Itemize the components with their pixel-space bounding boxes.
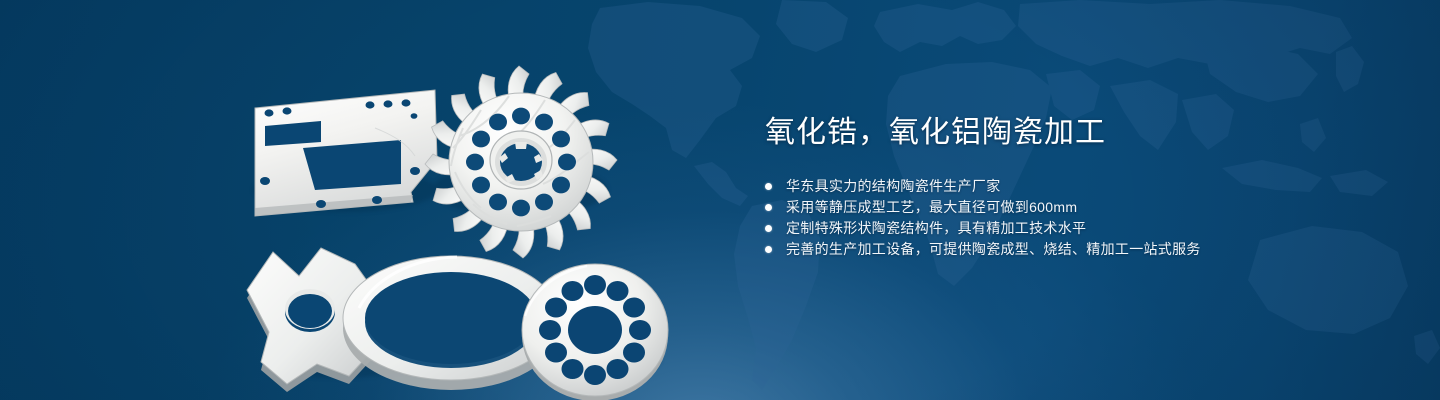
feature-text: 定制特殊形状陶瓷结构件，具有精加工技术水平 (786, 218, 1086, 239)
disc-holes (539, 275, 651, 385)
hero-banner: 氧化锆，氧化铝陶瓷加工 华东具实力的结构陶瓷件生产厂家 采用等静压成型工艺，最大… (0, 0, 1440, 400)
bullet-dot-icon (765, 225, 772, 232)
impeller-vanes (425, 66, 617, 258)
ceramic-ring-part (343, 256, 559, 390)
bullet-dot-icon (765, 204, 772, 211)
ceramic-cross-part (247, 248, 375, 392)
impeller-spline-tabs (499, 142, 543, 183)
feature-text: 华东具实力的结构陶瓷件生产厂家 (786, 176, 1001, 197)
list-item: 定制特殊形状陶瓷结构件，具有精加工技术水平 (765, 218, 1365, 239)
bullet-dot-icon (765, 183, 772, 190)
bullet-dot-icon (765, 246, 772, 253)
ceramic-impeller-part (425, 66, 617, 258)
banner-copy: 氧化锆，氧化铝陶瓷加工 华东具实力的结构陶瓷件生产厂家 采用等静压成型工艺，最大… (765, 112, 1365, 260)
list-item: 完善的生产加工设备，可提供陶瓷成型、烧结、精加工一站式服务 (765, 239, 1365, 260)
product-shadows (253, 164, 661, 378)
feature-text: 采用等静压成型工艺，最大直径可做到600mm (786, 197, 1077, 218)
banner-headline: 氧化锆，氧化铝陶瓷加工 (765, 112, 1365, 154)
banner-feature-list: 华东具实力的结构陶瓷件生产厂家 采用等静压成型工艺，最大直径可做到600mm 定… (765, 176, 1365, 260)
ceramic-perforated-disc-part (522, 264, 668, 400)
impeller-face-ridges (451, 96, 589, 226)
list-item: 采用等静压成型工艺，最大直径可做到600mm (765, 197, 1365, 218)
plate-holes (260, 99, 420, 208)
impeller-holes (466, 108, 576, 217)
list-item: 华东具实力的结构陶瓷件生产厂家 (765, 176, 1365, 197)
ceramic-products-image (225, 40, 695, 380)
ceramic-plate-part (255, 90, 437, 216)
feature-text: 完善的生产加工设备，可提供陶瓷成型、烧结、精加工一站式服务 (786, 239, 1201, 260)
